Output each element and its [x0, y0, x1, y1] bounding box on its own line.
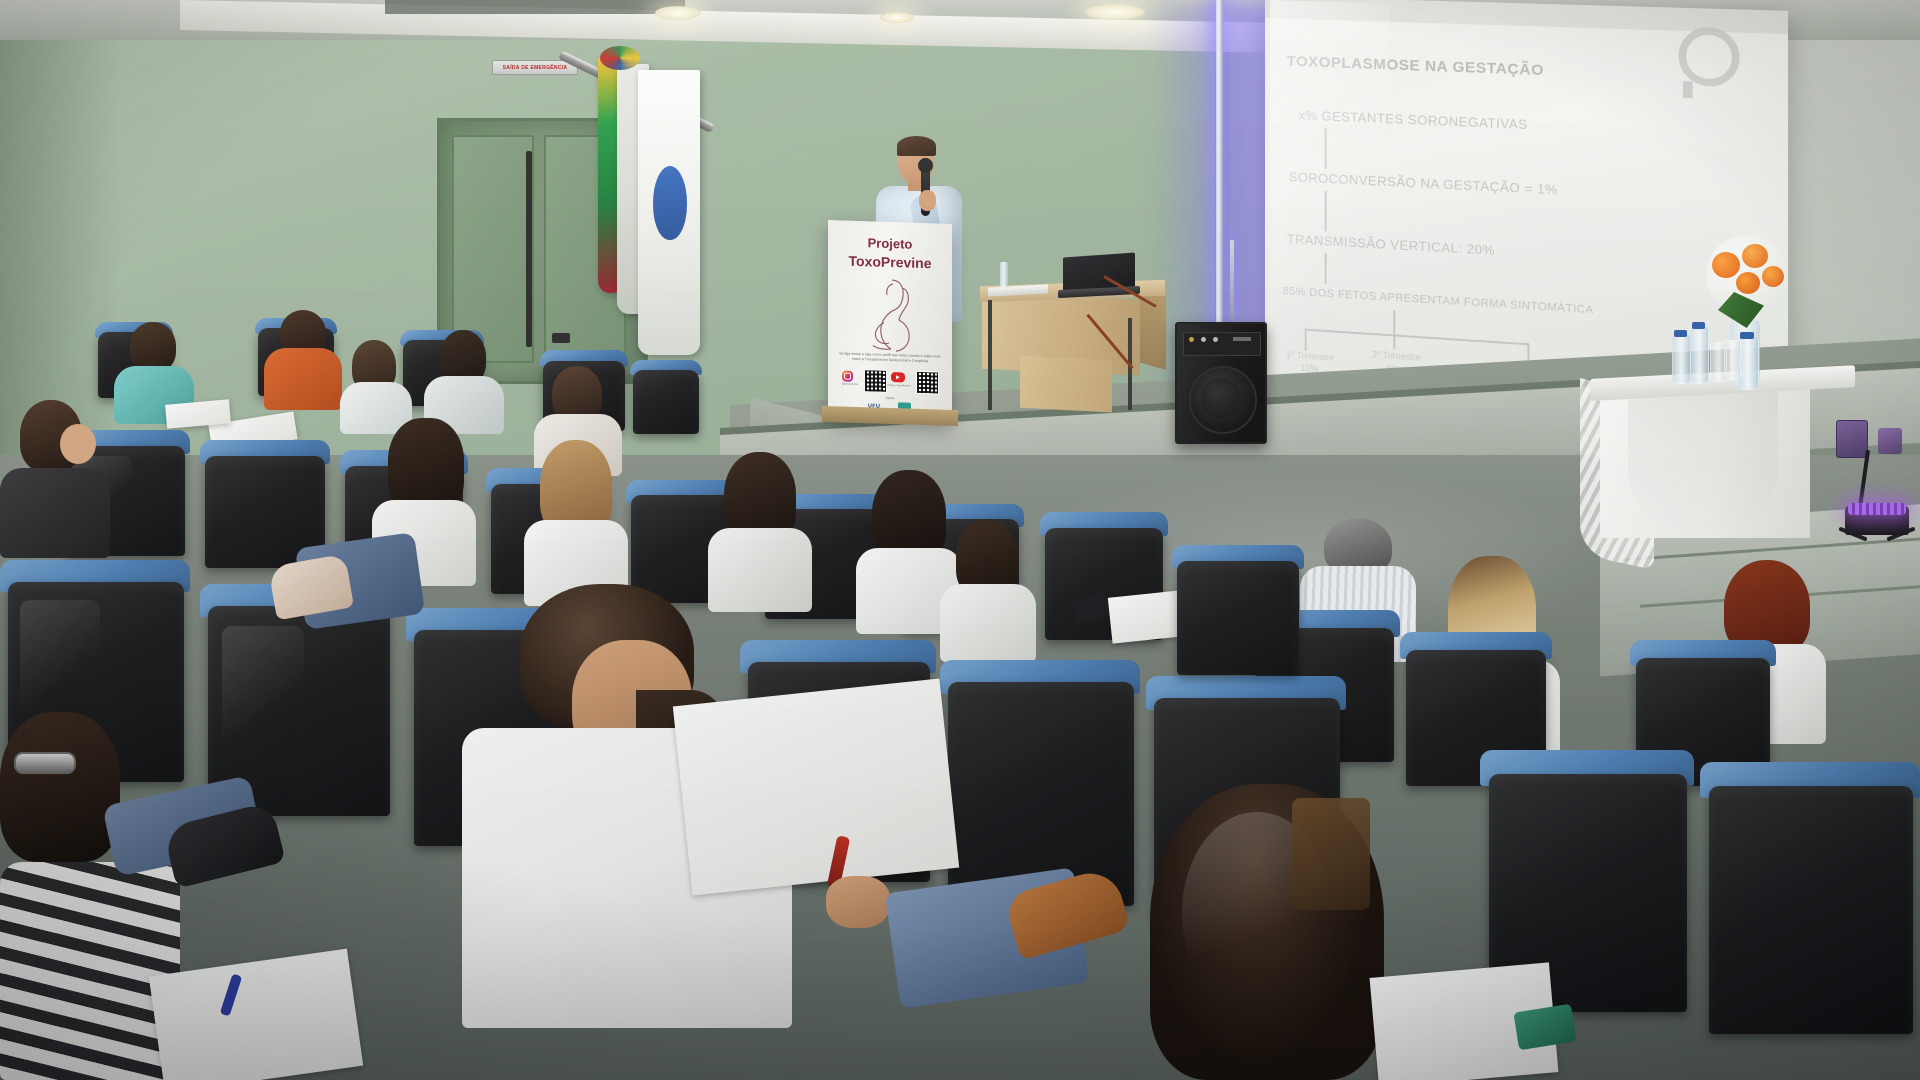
desk-water-bottle [1000, 262, 1008, 288]
youtube-icon [891, 372, 905, 382]
audience-person-hair [130, 322, 176, 372]
presenter-hand [919, 190, 936, 211]
water-bottle [1690, 326, 1709, 384]
par-led-face [1848, 503, 1906, 515]
orange-rose [1742, 244, 1768, 268]
auditorium-photo-scene: SAÍDA DE EMERGÊNCIA TOXOPLASMOSE NA GEST… [0, 0, 1920, 1080]
ceiling-vent [385, 0, 685, 14]
speaker-knob[interactable] [1213, 337, 1218, 342]
bottle-cap [1740, 332, 1754, 339]
eyeglasses [14, 752, 76, 774]
wall-switch-plate[interactable] [1878, 428, 1902, 454]
tree-stem [1393, 310, 1395, 334]
ceiling-light [655, 6, 701, 20]
bottle-cap [1692, 322, 1705, 329]
desk-modesty-panel [1020, 356, 1112, 413]
audience-person-torso [264, 348, 342, 410]
podium-subtitle: ToxoPrevine [828, 252, 952, 272]
exit-sign-label: SAÍDA DE EMERGÊNCIA [503, 65, 568, 71]
logo-ring [1679, 27, 1740, 88]
orange-rose [1762, 266, 1784, 287]
speaker-dust-cap [1201, 378, 1241, 418]
youtube-qr-code[interactable] [916, 371, 939, 395]
orange-rose [1712, 252, 1740, 278]
speaker-led-strip [1233, 337, 1251, 341]
youtube-handle: Projeto ToxoPrevine [886, 384, 912, 388]
water-bottle [1672, 334, 1691, 384]
pa-loudspeaker [1175, 322, 1267, 444]
speaker-knob[interactable] [1201, 337, 1206, 342]
audience-person-torso [708, 528, 812, 612]
seat[interactable] [630, 360, 702, 436]
toxo-circle-logo [1679, 27, 1740, 105]
flag-emblem [653, 166, 687, 240]
audience-person-hair [0, 712, 120, 862]
bottle-cap [1674, 330, 1687, 337]
seat[interactable] [1700, 762, 1920, 1042]
instagram-handle: @toxoprevine [838, 382, 862, 386]
audience-person-torso [0, 862, 180, 1080]
wall-power-outlet[interactable] [1836, 420, 1868, 458]
mic-stand-pole [1230, 240, 1234, 330]
screen-glare [1270, 0, 1390, 399]
instagram-icon [842, 370, 853, 381]
speaker-control-panel[interactable] [1183, 332, 1261, 356]
drinking-glass [1724, 340, 1741, 380]
logo-stem [1683, 81, 1693, 98]
tree-branch [1393, 334, 1395, 348]
audience-person-torso [0, 468, 110, 558]
ceiling-light [1085, 4, 1145, 20]
podium-body-text: Se liga nesse e siga nosso perfil nas re… [836, 351, 944, 364]
door-push-bar[interactable] [552, 333, 570, 343]
speaker-knob[interactable] [1189, 337, 1194, 342]
orange-rose [1736, 272, 1760, 294]
audience-person-head [60, 424, 96, 464]
handbag [1292, 798, 1370, 910]
presenter-hair [897, 136, 936, 156]
door-center-bar [526, 151, 532, 347]
microphone-capsule [918, 158, 933, 173]
instagram-qr-code[interactable] [864, 369, 887, 393]
water-bottle [1738, 336, 1759, 390]
support-label: Apoio [828, 394, 952, 402]
seat[interactable] [1172, 545, 1304, 679]
desk-leg [988, 300, 992, 410]
handout-paper [673, 679, 959, 896]
podium-title: Projeto [828, 234, 952, 254]
led-tube-pole [1216, 0, 1223, 350]
pregnant-woman-illustration [862, 275, 920, 355]
door-panel-left [452, 135, 534, 363]
flag-finial-ribbons [600, 46, 640, 70]
podium-banner: Projeto ToxoPrevine Se liga nesse e siga… [828, 220, 952, 422]
audience-person-hand [826, 876, 890, 928]
ceiling-light [880, 12, 914, 23]
audience-person-torso [940, 584, 1036, 662]
table-leg-cutout [1628, 388, 1778, 538]
